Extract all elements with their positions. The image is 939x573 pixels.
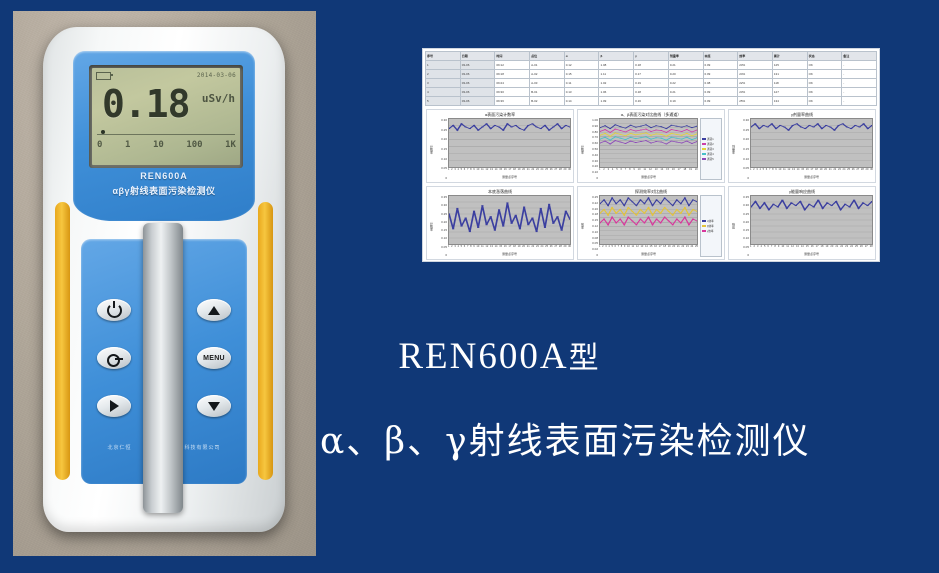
x-tick-label: 3 bbox=[454, 168, 455, 175]
chart-plot-area bbox=[448, 195, 571, 245]
x-tick-label: 10 bbox=[781, 245, 784, 252]
y-tick-label: 0.05 bbox=[736, 166, 749, 170]
x-tick-label: 7 bbox=[769, 168, 770, 175]
y-tick-label: 0.20 bbox=[434, 220, 447, 224]
table-cell: OK bbox=[807, 61, 842, 70]
table-header-cell: 备注 bbox=[842, 52, 877, 61]
y-tick-label: 0.20 bbox=[736, 137, 749, 141]
chart-y-axis-ticks: 0.250.220.200.180.150.120.100.080.050.02… bbox=[585, 195, 599, 257]
x-tick-label: 25 bbox=[545, 168, 548, 175]
table-cell: 131 bbox=[772, 70, 807, 79]
x-tick-label: 10 bbox=[476, 245, 479, 252]
table-cell: - bbox=[842, 70, 877, 79]
x-tick-label: 30 bbox=[568, 168, 571, 175]
x-tick-label: 14 bbox=[495, 245, 498, 252]
chart-body: 计数率0.300.250.200.150.100.050123456789101… bbox=[429, 118, 571, 180]
table-cell: 0.16 bbox=[634, 97, 669, 106]
chart-x-axis-ticks: 1234567891011121314151617181920 bbox=[599, 168, 698, 175]
x-tick-label: 17 bbox=[678, 168, 681, 175]
x-tick-label: 23 bbox=[838, 168, 841, 175]
legend-label: 通道5 bbox=[707, 157, 714, 161]
y-tick-label: 0.15 bbox=[434, 228, 447, 232]
lcd-status-bar: 2014-03-06 bbox=[96, 71, 236, 80]
x-tick-label: 22 bbox=[531, 168, 534, 175]
table-row: 303-0609:24A-030.111.020.190.220.0822%11… bbox=[426, 79, 877, 88]
x-tick-label: 5 bbox=[461, 168, 462, 175]
lcd-scale-ticks: 0 1 10 100 1K bbox=[97, 140, 236, 150]
x-tick-label: 14 bbox=[797, 168, 800, 175]
down-button[interactable] bbox=[197, 395, 231, 417]
x-tick-label: 23 bbox=[536, 168, 539, 175]
chart-x-axis-ticks: 1234567891011121314151617181920212223242… bbox=[599, 245, 698, 252]
x-tick-label: 11 bbox=[481, 245, 484, 252]
x-tick-label: 11 bbox=[481, 168, 484, 175]
y-tick-label: 0 bbox=[736, 176, 749, 180]
device-model-label: REN600A bbox=[73, 171, 255, 181]
x-tick-label: 27 bbox=[554, 168, 557, 175]
power-button[interactable] bbox=[97, 299, 131, 321]
table-cell: 23% bbox=[738, 88, 773, 97]
legend-item: 通道5 bbox=[702, 157, 720, 161]
x-tick-label: 12 bbox=[649, 168, 652, 175]
x-tick-label: 8 bbox=[772, 168, 773, 175]
x-tick-label: 6 bbox=[464, 168, 465, 175]
x-tick-label: 9 bbox=[778, 245, 779, 252]
table-cell: 0.19 bbox=[668, 97, 703, 106]
x-tick-label: 19 bbox=[825, 245, 828, 252]
chart-plot-wrap: 1234567891011121314151617181920212223242… bbox=[448, 195, 571, 257]
x-tick-label: 19 bbox=[518, 168, 521, 175]
legend-item: 通道2 bbox=[702, 142, 720, 146]
legend-label: 通道2 bbox=[707, 142, 714, 146]
x-tick-label: 2 bbox=[602, 245, 603, 252]
x-tick-label: 13 bbox=[640, 245, 643, 252]
chart-panel: 探测效率对比曲线效率0.250.220.200.180.150.120.100.… bbox=[577, 186, 725, 260]
x-tick-label: 6 bbox=[615, 245, 616, 252]
table-cell: 03-06 bbox=[460, 88, 495, 97]
table-cell: - bbox=[842, 88, 877, 97]
x-tick-label: 26 bbox=[550, 245, 553, 252]
x-tick-label: 17 bbox=[810, 168, 813, 175]
legend-label: β效率 bbox=[707, 224, 714, 228]
table-cell: 1.02 bbox=[599, 79, 634, 88]
table-cell: 0.18 bbox=[634, 88, 669, 97]
table-cell: 0.17 bbox=[634, 70, 669, 79]
x-tick-label: 6 bbox=[620, 168, 621, 175]
chart-panel: α表面污染计数率计数率0.300.250.200.150.100.0501234… bbox=[426, 109, 574, 183]
product-photo: 2014-03-06 0.18 uSv/h 0 1 10 100 1K REN6… bbox=[13, 11, 316, 556]
x-tick-label: 4 bbox=[457, 245, 458, 252]
y-tick-label: 0.10 bbox=[736, 157, 749, 161]
legend-label: 通道4 bbox=[707, 152, 714, 156]
chart-plot-area bbox=[750, 118, 873, 168]
x-tick-label: 8 bbox=[470, 245, 471, 252]
x-tick-label: 18 bbox=[821, 245, 824, 252]
x-tick-label: 18 bbox=[663, 245, 666, 252]
x-tick-label: 29 bbox=[564, 245, 567, 252]
table-cell: B-02 bbox=[530, 97, 565, 106]
table-cell: 5 bbox=[426, 97, 461, 106]
x-tick-label: 5 bbox=[616, 168, 617, 175]
table-cell: A-03 bbox=[530, 79, 565, 88]
x-tick-label: 22 bbox=[833, 168, 836, 175]
x-tick-label: 17 bbox=[816, 245, 819, 252]
x-tick-label: 30 bbox=[568, 245, 571, 252]
y-tick-label: 0.02 bbox=[585, 247, 598, 251]
y-tick-label: 0.15 bbox=[434, 147, 447, 151]
x-tick-label: 30 bbox=[870, 168, 873, 175]
table-cell: OK bbox=[807, 79, 842, 88]
x-tick-label: 3 bbox=[757, 245, 758, 252]
x-tick-label: 19 bbox=[689, 168, 692, 175]
x-tick-label: 9 bbox=[473, 245, 474, 252]
table-cell: OK bbox=[807, 70, 842, 79]
x-tick-label: 2 bbox=[603, 168, 604, 175]
y-tick-label: 0 bbox=[736, 253, 749, 257]
legend-item: γ效率 bbox=[702, 229, 720, 233]
chart-x-axis-label: 测量点序号 bbox=[448, 252, 571, 257]
x-tick-label: 27 bbox=[865, 245, 868, 252]
table-header-cell: γ bbox=[634, 52, 669, 61]
y-tick-label: 0.12 bbox=[585, 224, 598, 228]
table-cell: - bbox=[842, 97, 877, 106]
table-cell: 0.12 bbox=[564, 61, 599, 70]
table-header-cell: α bbox=[564, 52, 599, 61]
chart-plot-wrap: 1234567891011121314151617181920212223242… bbox=[750, 118, 873, 180]
x-tick-label: 5 bbox=[611, 245, 612, 252]
table-cell: 09:36 bbox=[495, 97, 530, 106]
lcd-tick-3: 100 bbox=[186, 140, 202, 150]
table-cell: 2 bbox=[426, 70, 461, 79]
x-tick-label: 28 bbox=[870, 245, 873, 252]
x-tick-label: 2 bbox=[451, 168, 452, 175]
x-tick-label: 17 bbox=[659, 245, 662, 252]
y-tick-label: 0.35 bbox=[434, 195, 447, 199]
x-tick-label: 26 bbox=[550, 168, 553, 175]
table-cell: 127 bbox=[772, 88, 807, 97]
x-tick-label: 24 bbox=[843, 168, 846, 175]
table-cell: 09:30 bbox=[495, 88, 530, 97]
x-tick-label: 3 bbox=[608, 168, 609, 175]
x-tick-label: 7 bbox=[771, 245, 772, 252]
y-tick-label: 0.08 bbox=[585, 236, 598, 240]
table-cell: 0.09 bbox=[703, 61, 738, 70]
table-cell: 4 bbox=[426, 88, 461, 97]
x-tick-label: 25 bbox=[847, 168, 850, 175]
table-cell: 1.08 bbox=[599, 61, 634, 70]
x-tick-label: 17 bbox=[508, 168, 511, 175]
x-tick-label: 1 bbox=[599, 168, 600, 175]
y-tick-label: 0.40 bbox=[585, 153, 598, 157]
chart-x-axis-label: 测量点序号 bbox=[750, 252, 873, 257]
x-tick-label: 10 bbox=[627, 245, 630, 252]
footnote-left: 北京仁恒 bbox=[107, 444, 131, 451]
y-tick-label: 1.00 bbox=[585, 118, 598, 122]
x-tick-label: 8 bbox=[629, 168, 630, 175]
x-tick-label: 24 bbox=[690, 245, 693, 252]
chart-body: 响应0.350.300.250.200.150.100.050123456789… bbox=[731, 195, 873, 257]
table-cell: OK bbox=[807, 88, 842, 97]
x-tick-label: 22 bbox=[681, 245, 684, 252]
x-tick-label: 8 bbox=[774, 245, 775, 252]
table-cell: 3 bbox=[426, 79, 461, 88]
table-cell: 0.11 bbox=[564, 79, 599, 88]
x-tick-label: 13 bbox=[792, 168, 795, 175]
x-tick-label: 10 bbox=[476, 168, 479, 175]
table-cell: 24% bbox=[738, 70, 773, 79]
x-tick-label: 1 bbox=[599, 245, 600, 252]
lcd-bargraph-axis bbox=[97, 134, 235, 135]
x-tick-label: 4 bbox=[759, 168, 760, 175]
x-tick-label: 24 bbox=[541, 245, 544, 252]
x-tick-label: 16 bbox=[654, 245, 657, 252]
table-cell: B-01 bbox=[530, 88, 565, 97]
chart-plot-wrap: 1234567891011121314151617181920212223242… bbox=[750, 195, 873, 257]
x-tick-label: 28 bbox=[559, 245, 562, 252]
x-tick-label: 21 bbox=[835, 245, 838, 252]
y-tick-label: 0.30 bbox=[736, 118, 749, 122]
device-model-sublabel: αβγ射线表面污染检测仪 bbox=[73, 184, 255, 197]
x-tick-label: 4 bbox=[760, 245, 761, 252]
x-tick-label: 26 bbox=[860, 245, 863, 252]
chart-plot-area bbox=[448, 118, 571, 168]
legend-item: α效率 bbox=[702, 219, 720, 223]
x-tick-label: 24 bbox=[541, 168, 544, 175]
legend-item: β效率 bbox=[702, 224, 720, 228]
x-tick-label: 1 bbox=[448, 168, 449, 175]
y-tick-label: 0.30 bbox=[434, 118, 447, 122]
x-tick-label: 14 bbox=[801, 245, 804, 252]
y-tick-label: 0.30 bbox=[434, 203, 447, 207]
table-cell: 03-06 bbox=[460, 70, 495, 79]
x-tick-label: 2 bbox=[753, 168, 754, 175]
chart-x-axis-label: 测量点序号 bbox=[599, 175, 698, 180]
device-front-upper-panel: 2014-03-06 0.18 uSv/h 0 1 10 100 1K REN6… bbox=[73, 51, 255, 221]
x-tick-label: 25 bbox=[545, 245, 548, 252]
y-tick-label: 0.60 bbox=[585, 141, 598, 145]
legend-label: γ效率 bbox=[707, 229, 713, 233]
table-header-cell: 序号 bbox=[426, 52, 461, 61]
y-tick-label: 0.25 bbox=[585, 195, 598, 199]
chart-x-axis-label: 测量点序号 bbox=[750, 175, 873, 180]
table-cell: OK bbox=[807, 97, 842, 106]
device-body: 2014-03-06 0.18 uSv/h 0 1 10 100 1K REN6… bbox=[43, 27, 285, 532]
chart-plot-wrap: 1234567891011121314151617181920测量点序号 bbox=[599, 118, 698, 180]
x-tick-label: 8 bbox=[470, 168, 471, 175]
headline-model-suffix: 型 bbox=[569, 341, 601, 376]
table-cell: 23% bbox=[738, 61, 773, 70]
x-tick-label: 6 bbox=[464, 245, 465, 252]
x-tick-label: 16 bbox=[672, 168, 675, 175]
y-tick-label: 0 bbox=[585, 176, 598, 180]
x-tick-label: 20 bbox=[824, 168, 827, 175]
lcd-status-date: 2014-03-06 bbox=[197, 72, 236, 79]
x-tick-label: 2 bbox=[451, 245, 452, 252]
legend-item: 通道4 bbox=[702, 152, 720, 156]
x-tick-label: 4 bbox=[612, 168, 613, 175]
triangle-right-icon bbox=[110, 400, 119, 412]
lcd-tick-2: 10 bbox=[153, 140, 164, 150]
table-cell: 118 bbox=[772, 79, 807, 88]
table-cell: 0.13 bbox=[564, 88, 599, 97]
x-tick-label: 1 bbox=[750, 245, 751, 252]
x-tick-label: 14 bbox=[660, 168, 663, 175]
x-tick-label: 20 bbox=[830, 245, 833, 252]
battery-icon bbox=[96, 72, 111, 80]
chart-plot-wrap: 1234567891011121314151617181920212223242… bbox=[448, 118, 571, 180]
y-tick-label: 0.70 bbox=[585, 135, 598, 139]
y-tick-label: 0 bbox=[585, 253, 598, 257]
chart-legend: α效率β效率γ效率 bbox=[700, 195, 722, 257]
table-cell: 25% bbox=[738, 97, 773, 106]
chart-x-axis-label: 测量点序号 bbox=[448, 175, 571, 180]
x-tick-label: 3 bbox=[605, 245, 606, 252]
x-tick-label: 16 bbox=[504, 168, 507, 175]
table-cell: 0.21 bbox=[668, 61, 703, 70]
x-tick-label: 16 bbox=[806, 168, 809, 175]
chart-plot-wrap: 1234567891011121314151617181920212223242… bbox=[599, 195, 698, 257]
chart-panel: γ剂量率曲线剂量率0.300.250.200.150.100.050123456… bbox=[728, 109, 876, 183]
chart-y-axis-ticks: 1.000.900.800.700.600.500.400.300.200.10… bbox=[585, 118, 599, 180]
table-cell: 134 bbox=[772, 97, 807, 106]
table-cell: - bbox=[842, 79, 877, 88]
x-tick-label: 24 bbox=[850, 245, 853, 252]
triangle-up-icon bbox=[208, 306, 220, 315]
chart-x-axis-ticks: 1234567891011121314151617181920212223242… bbox=[750, 168, 873, 175]
x-tick-label: 14 bbox=[645, 245, 648, 252]
x-tick-label: 4 bbox=[457, 168, 458, 175]
headline-model: REN600A型 bbox=[0, 333, 939, 378]
x-tick-label: 5 bbox=[763, 168, 764, 175]
chart-plot-area bbox=[599, 118, 698, 168]
x-tick-label: 9 bbox=[473, 168, 474, 175]
x-tick-label: 1 bbox=[750, 168, 751, 175]
x-tick-label: 15 bbox=[806, 245, 809, 252]
chart-x-axis-ticks: 1234567891011121314151617181920212223242… bbox=[750, 245, 873, 252]
table-cell: 0.09 bbox=[703, 88, 738, 97]
x-tick-label: 15 bbox=[666, 168, 669, 175]
chart-panel: 本底涨落曲线计数率0.350.300.250.200.150.100.05012… bbox=[426, 186, 574, 260]
legend-item: 通道3 bbox=[702, 147, 720, 151]
x-tick-label: 12 bbox=[485, 168, 488, 175]
table-cell: 1.09 bbox=[599, 97, 634, 106]
legend-item: 通道1 bbox=[702, 137, 720, 141]
x-tick-label: 23 bbox=[686, 245, 689, 252]
y-tick-label: 0.25 bbox=[434, 128, 447, 132]
x-tick-label: 18 bbox=[815, 168, 818, 175]
y-tick-label: 0.10 bbox=[585, 170, 598, 174]
x-tick-label: 20 bbox=[695, 168, 698, 175]
x-tick-label: 21 bbox=[527, 245, 530, 252]
legend-label: 通道1 bbox=[707, 137, 714, 141]
x-tick-label: 16 bbox=[811, 245, 814, 252]
legend-swatch bbox=[702, 158, 706, 161]
lcd-tick-4: 1K bbox=[225, 140, 236, 150]
start-button[interactable] bbox=[97, 395, 131, 417]
legend-swatch bbox=[702, 148, 706, 151]
x-tick-label: 23 bbox=[536, 245, 539, 252]
legend-label: α效率 bbox=[707, 219, 714, 223]
up-button[interactable] bbox=[197, 299, 231, 321]
table-cell: 09:18 bbox=[495, 70, 530, 79]
table-row: 503-0609:36B-020.141.090.160.190.0925%13… bbox=[426, 97, 877, 106]
x-tick-label: 6 bbox=[766, 168, 767, 175]
chart-y-axis-ticks: 0.300.250.200.150.100.050 bbox=[434, 118, 448, 180]
y-tick-label: 0.20 bbox=[585, 164, 598, 168]
legend-swatch bbox=[702, 138, 706, 141]
y-tick-label: 0.80 bbox=[585, 130, 598, 134]
table-cell: 0.19 bbox=[634, 79, 669, 88]
y-tick-label: 0.30 bbox=[585, 159, 598, 163]
x-tick-label: 23 bbox=[845, 245, 848, 252]
table-cell: 1 bbox=[426, 61, 461, 70]
table-cell: 09:24 bbox=[495, 79, 530, 88]
x-tick-label: 6 bbox=[767, 245, 768, 252]
y-tick-label: 0.05 bbox=[585, 241, 598, 245]
software-report-screenshot: 序号日期时间点位αβγ剂量率本底效率累计状态备注103-0609:12A-010… bbox=[422, 48, 880, 262]
headline-description: α、β、γ射线表面污染检测仪 bbox=[320, 412, 939, 464]
x-tick-label: 1 bbox=[448, 245, 449, 252]
chart-body: 效率0.250.220.200.180.150.120.100.080.050.… bbox=[580, 195, 722, 257]
table-cell: - bbox=[842, 61, 877, 70]
x-tick-label: 26 bbox=[852, 168, 855, 175]
y-tick-label: 0.90 bbox=[585, 124, 598, 128]
x-tick-label: 29 bbox=[564, 168, 567, 175]
x-tick-label: 12 bbox=[787, 168, 790, 175]
chart-x-axis-label: 测量点序号 bbox=[599, 252, 698, 257]
table-cell: 0.21 bbox=[668, 88, 703, 97]
headline-model-text: REN600A bbox=[398, 336, 568, 377]
chart-plot-area bbox=[750, 195, 873, 245]
table-cell: 0.09 bbox=[703, 70, 738, 79]
x-tick-label: 27 bbox=[554, 245, 557, 252]
table-header-cell: 点位 bbox=[530, 52, 565, 61]
x-tick-label: 11 bbox=[643, 168, 646, 175]
x-tick-label: 3 bbox=[756, 168, 757, 175]
table-header-cell: 累计 bbox=[772, 52, 807, 61]
x-tick-label: 10 bbox=[638, 168, 641, 175]
table-header-cell: 时间 bbox=[495, 52, 530, 61]
legend-swatch bbox=[702, 225, 706, 228]
y-tick-label: 0.15 bbox=[736, 228, 749, 232]
y-tick-label: 0.05 bbox=[736, 245, 749, 249]
chart-legend: 通道1通道2通道3通道4通道5 bbox=[700, 118, 722, 180]
legend-swatch bbox=[702, 220, 706, 223]
table-cell: 03-06 bbox=[460, 79, 495, 88]
legend-swatch bbox=[702, 230, 706, 233]
y-tick-label: 0.10 bbox=[434, 236, 447, 240]
x-tick-label: 4 bbox=[608, 245, 609, 252]
table-header-cell: 效率 bbox=[738, 52, 773, 61]
y-tick-label: 0.15 bbox=[736, 147, 749, 151]
chart-panel: γ能量响应曲线响应0.350.300.250.200.150.100.05012… bbox=[728, 186, 876, 260]
x-tick-label: 25 bbox=[695, 245, 698, 252]
triangle-down-icon bbox=[208, 402, 220, 411]
table-cell: 0.22 bbox=[668, 79, 703, 88]
x-tick-label: 9 bbox=[775, 168, 776, 175]
x-tick-label: 7 bbox=[625, 168, 626, 175]
x-tick-label: 13 bbox=[490, 245, 493, 252]
table-cell: 0.08 bbox=[703, 79, 738, 88]
x-tick-label: 13 bbox=[655, 168, 658, 175]
x-tick-label: 20 bbox=[672, 245, 675, 252]
y-tick-label: 0.20 bbox=[585, 207, 598, 211]
table-cell: 22% bbox=[738, 79, 773, 88]
table-row: 403-0609:30B-010.131.060.180.210.0923%12… bbox=[426, 88, 877, 97]
x-tick-label: 15 bbox=[801, 168, 804, 175]
report-data-sheet: 序号日期时间点位αβγ剂量率本底效率累计状态备注103-0609:12A-010… bbox=[423, 49, 879, 107]
table-cell: 09:12 bbox=[495, 61, 530, 70]
